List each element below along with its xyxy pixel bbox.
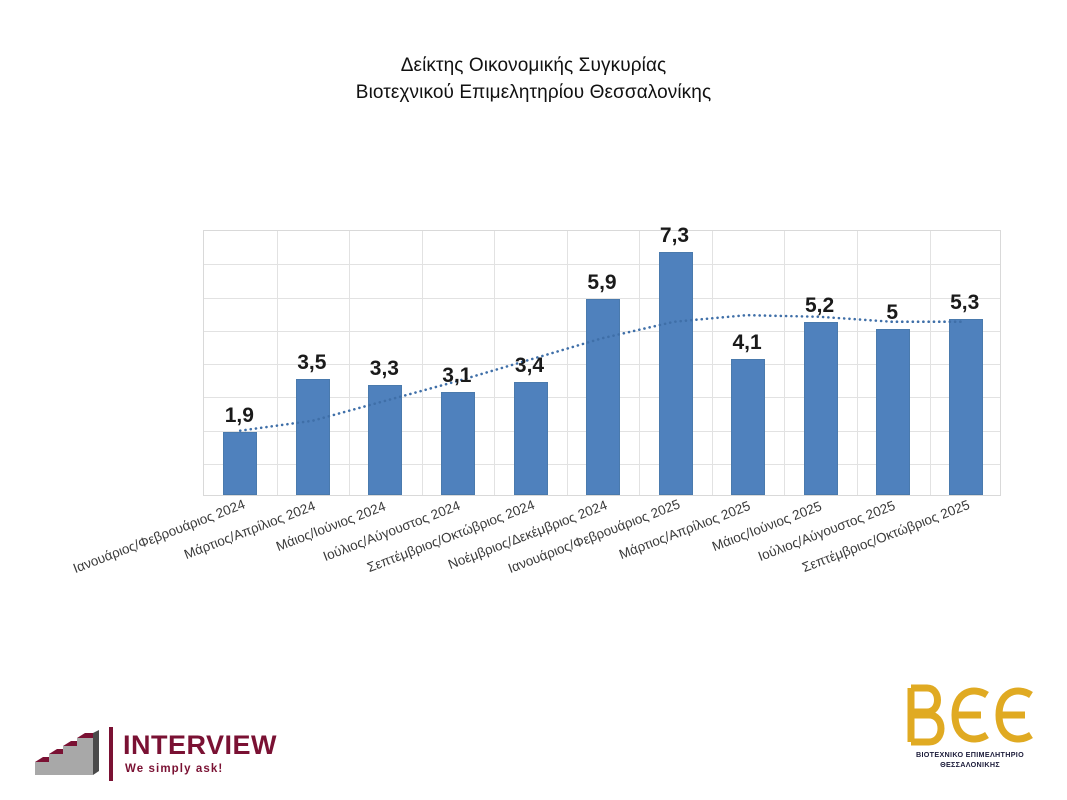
bee-logo-caption: ΒΙΟΤΕΧΝΙΚΟ ΕΠΙΜΕΛΗΤΗΡΙΟ ΘΕΣΣΑΛΟΝΙΚΗΣ [895, 750, 1045, 770]
bar-value-label-9: 5,2 [805, 294, 834, 318]
page-title: Δείκτης Οικονομικής Συγκυρίας Βιοτεχνικο… [0, 52, 1067, 106]
interview-logo: INTERVIEW We simply ask! [33, 727, 273, 783]
bar-value-label-4: 3,1 [442, 364, 471, 388]
bar-value-label-3: 3,3 [370, 357, 399, 381]
interview-wordmark: INTERVIEW [123, 731, 277, 760]
bar-value-label-10: 5 [886, 301, 898, 325]
bee-caption-line-2: ΘΕΣΣΑΛΟΝΙΚΗΣ [895, 760, 1045, 770]
bee-monogram-icon [901, 684, 1039, 746]
bar-value-label-6: 5,9 [587, 271, 616, 295]
interview-bars-icon [33, 729, 101, 779]
bar-value-label-2: 3,5 [297, 351, 326, 375]
bee-caption-line-1: ΒΙΟΤΕΧΝΙΚΟ ΕΠΙΜΕΛΗΤΗΡΙΟ [895, 750, 1045, 760]
chart-title-line-1: Δείκτης Οικονομικής Συγκυρίας [0, 52, 1067, 79]
interview-logo-divider [109, 727, 113, 781]
category-label-2: Μάρτιος/Απρίλιος 2024 [182, 498, 317, 562]
interview-tagline: We simply ask! [125, 763, 223, 775]
chart-category-axis: Ιανουάριος/Φεβρουάριος 2024Μάρτιος/Απρίλ… [0, 497, 1067, 577]
bar-value-label-1: 1,9 [225, 404, 254, 428]
bar-value-label-8: 4,1 [732, 331, 761, 355]
bar-value-label-5: 3,4 [515, 354, 544, 378]
category-label-8: Μάρτιος/Απρίλιος 2025 [617, 498, 752, 562]
bar-value-label-11: 5,3 [950, 291, 979, 315]
chart-title-line-2: Βιοτεχνικού Επιμελητηρίου Θεσσαλονίκης [0, 79, 1067, 106]
bee-logo: ΒΙΟΤΕΧΝΙΚΟ ΕΠΙΜΕΛΗΤΗΡΙΟ ΘΕΣΣΑΛΟΝΙΚΗΣ [895, 684, 1045, 780]
bar-value-label-7: 7,3 [660, 224, 689, 248]
